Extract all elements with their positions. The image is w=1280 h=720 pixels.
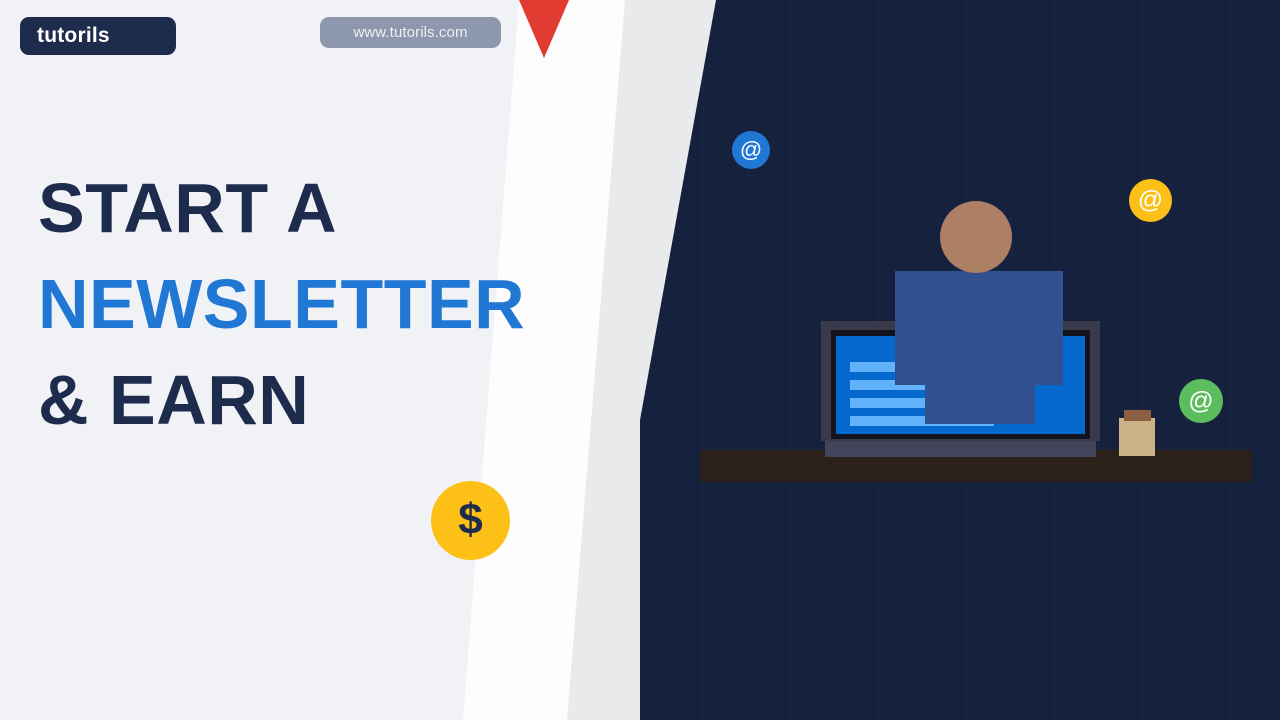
website-url-pill[interactable]: www.tutorils.com <box>320 17 501 48</box>
red-triangle-icon <box>519 0 569 58</box>
person-head <box>940 201 1012 273</box>
brand-logo[interactable]: tutorils <box>20 17 176 55</box>
at-sign-badge-green: @ <box>1179 379 1223 423</box>
brand-logo-label: tutorils <box>37 24 110 48</box>
at-glyph-green: @ <box>1188 389 1213 414</box>
dollar-sign-glyph: $ <box>458 498 482 542</box>
at-sign-badge-yellow: @ <box>1129 179 1172 222</box>
promo-banner: tutorils www.tutorils.com START A NEWSLE… <box>0 0 1280 720</box>
website-url-label: www.tutorils.com <box>353 24 467 41</box>
laptop-base <box>825 441 1096 457</box>
coffee-cup-lid <box>1124 410 1151 421</box>
coffee-cup-body <box>1119 418 1155 456</box>
dollar-coin-icon: $ <box>431 481 510 560</box>
headline: START A NEWSLETTER & EARN <box>38 160 508 448</box>
headline-line-2: NEWSLETTER <box>38 256 508 352</box>
person-arms <box>925 385 1035 424</box>
headline-line-3: & EARN <box>38 352 508 448</box>
person-torso <box>895 271 1063 385</box>
at-glyph-blue: @ <box>740 139 762 161</box>
at-sign-badge-blue: @ <box>732 131 770 169</box>
at-glyph-yellow: @ <box>1138 188 1163 213</box>
headline-line-1: START A <box>38 160 508 256</box>
